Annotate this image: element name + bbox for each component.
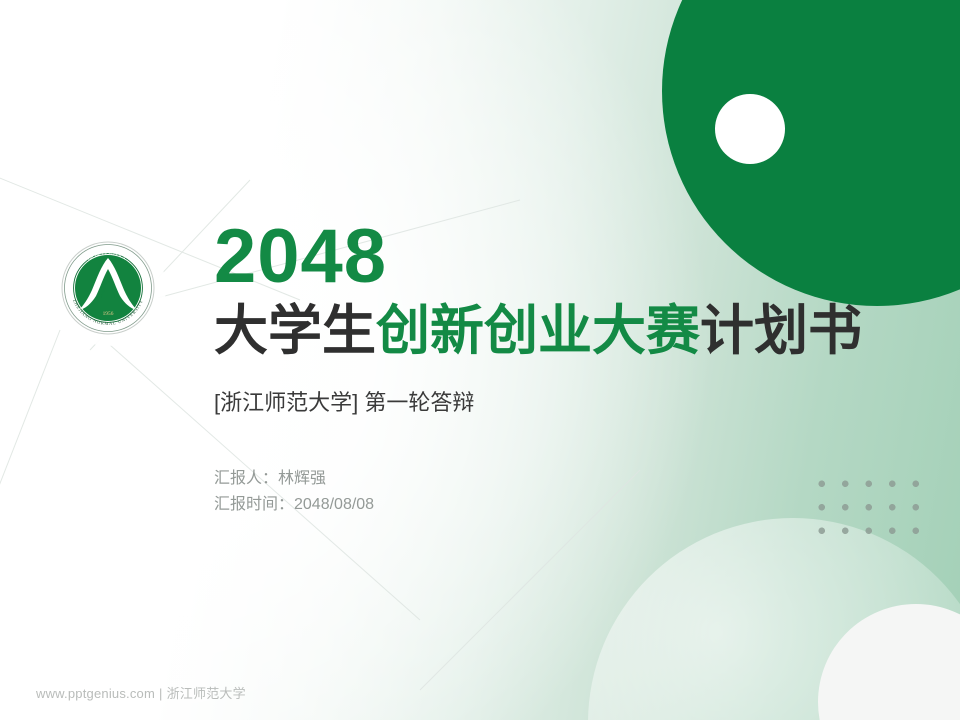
headline-part-2: 创新创业大赛 xyxy=(376,301,700,361)
slide-footer: www.pptgenius.com|浙江师范大学 xyxy=(36,683,246,702)
footer-org: 浙江师范大学 xyxy=(167,686,246,701)
white-circle-overlap xyxy=(715,94,785,164)
slide-meta-block: 汇报人：林辉强 汇报时间：2048/08/08 xyxy=(214,466,914,518)
report-date-line: 汇报时间：2048/08/08 xyxy=(214,492,914,518)
title-text-block: 2048 大学生创新创业大赛计划书 [浙江师范大学] 第一轮答辩 汇报人：林辉强… xyxy=(214,216,914,518)
headline-part-3: 计划书 xyxy=(700,301,862,361)
footer-site: www.pptgenius.com xyxy=(36,686,155,701)
footer-separator: | xyxy=(159,686,163,701)
university-logo: 浙江师范大学 ZHEJIANG NORMAL UNIVERSITY 1956 xyxy=(50,230,166,346)
slide-year: 2048 xyxy=(214,216,914,298)
slide-headline: 大学生创新创业大赛计划书 xyxy=(214,300,914,362)
headline-part-1: 大学生 xyxy=(214,301,376,361)
presentation-slide: 浙江师范大学 ZHEJIANG NORMAL UNIVERSITY 1956 2… xyxy=(0,0,960,720)
zhejiang-normal-university-emblem-icon: 浙江师范大学 ZHEJIANG NORMAL UNIVERSITY 1956 xyxy=(58,238,158,338)
svg-text:1956: 1956 xyxy=(103,311,114,317)
slide-subtitle: [浙江师范大学] 第一轮答辩 xyxy=(214,388,914,418)
presenter-line: 汇报人：林辉强 xyxy=(214,466,914,492)
